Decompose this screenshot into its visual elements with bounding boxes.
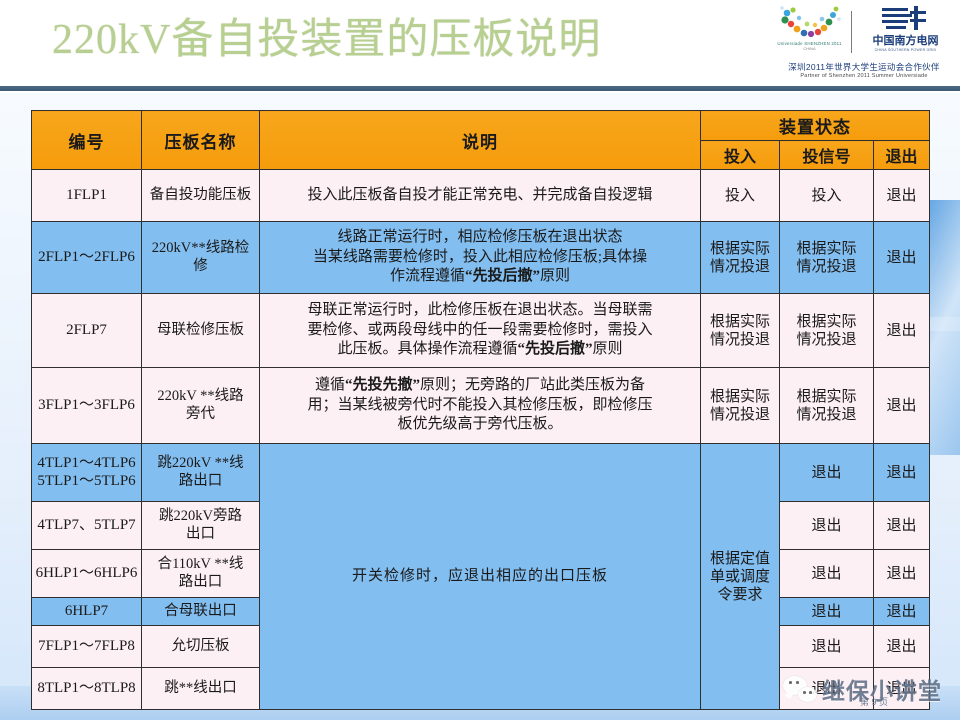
pressplate-table: 编号 压板名称 说明 装置状态 投入 投信号 退出 1FLP1 备自投功能压板 … xyxy=(31,110,930,710)
cell-status-signal: 退出 xyxy=(780,598,874,626)
cell-status-signal: 投入 xyxy=(780,170,874,222)
col-header-status-group: 装置状态 xyxy=(701,111,930,141)
cell-status-out: 退出 xyxy=(874,550,930,598)
desc-line: 当某线路需要检修时，投入此相应检修压板;具体操 xyxy=(263,248,697,268)
csg-logo: 中国南方电网 CHINA SOUTHERN POWER GRID xyxy=(858,5,954,59)
col-header-status-in: 投入 xyxy=(701,141,780,170)
logo-row: Universiade SHENZHEN 2011 CHINA 中国南方电网 C… xyxy=(775,4,954,60)
cell-name: 跳220kV **线路出口 xyxy=(142,444,260,502)
cell-status-in: 投入 xyxy=(701,170,780,222)
cell-id: 8TLP1～8TLP8 xyxy=(32,668,142,710)
cell-id: 4TLP7、5TLP7 xyxy=(32,502,142,550)
cell-status-in: 根据实际情况投退 xyxy=(701,368,780,444)
table-row: 2FLP1～2FLP6 220kV**线路检修 线路正常运行时，相应检修压板在退… xyxy=(32,222,930,294)
logo-block: Universiade SHENZHEN 2011 CHINA 中国南方电网 C… xyxy=(776,4,952,82)
cell-name: 220kV**线路检修 xyxy=(142,222,260,294)
table-row: 2FLP7 母联检修压板 母联正常运行时，此检修压板在退出状态。当母联需 要检修… xyxy=(32,294,930,368)
cell-status-in: 根据实际情况投退 xyxy=(701,222,780,294)
cell-id: 4TLP1～4TLP6 5TLP1～5TLP6 xyxy=(32,444,142,502)
desc-line: 作流程遵循“先投后撤”原则 xyxy=(263,267,697,287)
cell-id: 6HLP7 xyxy=(32,598,142,626)
cell-status-in: 根据实际情况投退 xyxy=(701,294,780,368)
col-header-desc: 说明 xyxy=(260,111,701,170)
cell-name: 220kV **线路旁代 xyxy=(142,368,260,444)
cell-name: 合110kV **线路出口 xyxy=(142,550,260,598)
table-header-row-1: 编号 压板名称 说明 装置状态 xyxy=(32,111,930,141)
cell-id-line2: 5TLP1～5TLP6 xyxy=(35,473,138,490)
header-divider-highlight xyxy=(0,91,960,93)
cell-status-out: 退出 xyxy=(874,222,930,294)
universiade-logo-icon: Universiade SHENZHEN 2011 CHINA xyxy=(775,5,845,59)
csg-mark-icon xyxy=(880,5,932,31)
cell-id: 2FLP1～2FLP6 xyxy=(32,222,142,294)
desc-line: 用；当某线被旁代时不能投入其检修压板，即检修压 xyxy=(263,396,697,416)
desc-emphasis: “先投后撤” xyxy=(465,268,540,284)
col-header-status-signal: 投信号 xyxy=(780,141,874,170)
cell-desc: 遵循“先投先撤”原则；无旁路的厂站此类压板为备 用；当某线被旁代时不能投入其检修… xyxy=(260,368,701,444)
cell-id: 6HLP1～6HLP6 xyxy=(32,550,142,598)
csg-name: 中国南方电网 xyxy=(873,32,939,48)
watermark: 继保小讲堂 xyxy=(783,672,942,706)
partner-caption-en: Partner of Shenzhen 2011 Summer Universi… xyxy=(800,73,927,79)
cell-id-line1: 4TLP1～4TLP6 xyxy=(35,455,138,472)
cell-merged-desc: 开关检修时，应退出相应的出口压板 xyxy=(260,444,701,710)
cell-name: 跳**线出口 xyxy=(142,668,260,710)
cell-name: 母联检修压板 xyxy=(142,294,260,368)
desc-line: 板优先级高于旁代压板。 xyxy=(263,415,697,435)
cell-status-out: 退出 xyxy=(874,444,930,502)
cell-status-signal: 退出 xyxy=(780,502,874,550)
cell-status-signal: 退出 xyxy=(780,626,874,668)
cell-id: 2FLP7 xyxy=(32,294,142,368)
cell-status-signal: 退出 xyxy=(780,444,874,502)
watermark-text: 继保小讲堂 xyxy=(822,672,942,706)
desc-line: 要检修、或两段母线中的任一段需要检修时，需投入 xyxy=(263,321,697,341)
col-header-id: 编号 xyxy=(32,111,142,170)
table-row: 3FLP1～3FLP6 220kV **线路旁代 遵循“先投先撤”原则；无旁路的… xyxy=(32,368,930,444)
desc-emphasis: “先投后撤” xyxy=(517,341,592,357)
desc-emphasis: “先投先撤” xyxy=(345,377,420,393)
wechat-icon xyxy=(783,676,817,702)
page-title: 220kV备自投装置的压板说明 xyxy=(52,14,601,66)
cell-status-out: 退出 xyxy=(874,502,930,550)
col-header-status-out: 退出 xyxy=(874,141,930,170)
cell-desc: 母联正常运行时，此检修压板在退出状态。当母联需 要检修、或两段母线中的任一段需要… xyxy=(260,294,701,368)
cell-name: 跳220kV旁路出口 xyxy=(142,502,260,550)
cell-desc: 线路正常运行时，相应检修压板在退出状态 当某线路需要检修时，投入此相应检修压板;… xyxy=(260,222,701,294)
partner-caption-cn: 深圳2011年世界大学生运动会合作伙伴 xyxy=(788,61,939,73)
desc-line: 遵循“先投先撤”原则；无旁路的厂站此类压板为备 xyxy=(263,376,697,396)
table-row: 1FLP1 备自投功能压板 投入此压板备自投才能正常充电、并完成备自投逻辑 投入… xyxy=(32,170,930,222)
slide-canvas: 220kV备自投装置的压板说明 xyxy=(0,0,960,720)
desc-line: 线路正常运行时，相应检修压板在退出状态 xyxy=(263,228,697,248)
cell-merged-status-in: 根据定值单或调度令要求 xyxy=(701,444,780,710)
desc-line: 母联正常运行时，此检修压板在退出状态。当母联需 xyxy=(263,301,697,321)
cell-status-signal: 根据实际情况投退 xyxy=(780,294,874,368)
cell-id: 3FLP1～3FLP6 xyxy=(32,368,142,444)
cell-desc: 投入此压板备自投才能正常充电、并完成备自投逻辑 xyxy=(260,170,701,222)
cell-name: 合母联出口 xyxy=(142,598,260,626)
cell-status-out: 退出 xyxy=(874,626,930,668)
cell-status-out: 退出 xyxy=(874,598,930,626)
desc-line: 此压板。具体操作流程遵循“先投后撤”原则 xyxy=(263,340,697,360)
table-row: 4TLP1～4TLP6 5TLP1～5TLP6 跳220kV **线路出口 开关… xyxy=(32,444,930,502)
universiade-mark-icon xyxy=(777,5,843,41)
cell-id: 1FLP1 xyxy=(32,170,142,222)
cell-id: 7FLP1～7FLP8 xyxy=(32,626,142,668)
cell-status-signal: 根据实际情况投退 xyxy=(780,368,874,444)
cell-status-out: 退出 xyxy=(874,294,930,368)
cell-status-signal: 根据实际情况投退 xyxy=(780,222,874,294)
universiade-caption-secondary: CHINA xyxy=(803,46,815,51)
csg-name-en: CHINA SOUTHERN POWER GRID xyxy=(875,48,937,52)
col-header-name: 压板名称 xyxy=(142,111,260,170)
cell-status-out: 退出 xyxy=(874,368,930,444)
cell-name: 备自投功能压板 xyxy=(142,170,260,222)
logo-separator xyxy=(851,11,852,53)
cell-status-signal: 退出 xyxy=(780,550,874,598)
cell-status-out: 退出 xyxy=(874,170,930,222)
cell-name: 允切压板 xyxy=(142,626,260,668)
